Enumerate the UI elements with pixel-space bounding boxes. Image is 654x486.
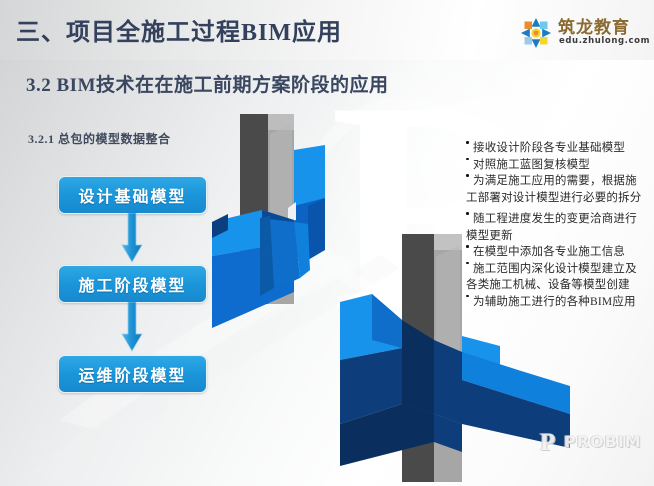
flow-box-design-model[interactable]: 设计基础模型 [58, 176, 207, 214]
probim-p-icon: P [540, 430, 555, 455]
bullet-item: 随工程进度发生的变更洽商进行 [466, 211, 652, 228]
logo-url: edu.zhulong.com [559, 36, 650, 46]
bullet-item: 在模型中添加各专业施工信息 [466, 244, 652, 261]
bullet-item: 为满足施工应用的需要，根据施 [466, 173, 652, 190]
model-flow-diagram: 设计基础模型 施工阶段模型 运维阶段模型 [58, 176, 208, 391]
flow-arrow-down-1 [121, 213, 143, 265]
bullet-item: 对照施工蓝图复核模型 [466, 157, 652, 174]
bullet-list: 接收设计阶段各专业基础模型 对照施工蓝图复核模型 为满足施工应用的需要，根据施 … [466, 140, 652, 310]
flow-box-construction-model[interactable]: 施工阶段模型 [58, 265, 207, 303]
subsection-label: 3.2.1 总包的模型数据整合 [28, 130, 171, 147]
bullet-item-continuation: 各类施工机械、设备等模型创建 [466, 277, 652, 294]
page-title: 三、项目全施工过程BIM应用 [16, 12, 342, 47]
section-subtitle: 3.2 BIM技术在在施工前期方案阶段的应用 [26, 70, 389, 97]
flower-logo-icon [518, 15, 554, 51]
bullet-item: 接收设计阶段各专业基础模型 [466, 140, 652, 157]
bullet-item: 施工范围内深化设计模型建立及 [466, 261, 652, 278]
bullet-item: 为辅助施工进行的各种BIM应用 [466, 294, 652, 311]
probim-watermark: P PROBIM [540, 430, 650, 458]
bullet-item-continuation: 模型更新 [466, 228, 652, 245]
flow-box-label: 运维阶段模型 [78, 362, 186, 386]
flow-box-label: 设计基础模型 [78, 183, 186, 207]
flow-box-label: 施工阶段模型 [78, 272, 186, 296]
flow-arrow-down-2 [121, 302, 143, 354]
bullet-item-continuation: 工部署对设计模型进行必要的拆分 [466, 190, 652, 207]
brand-logo[interactable]: 筑龙教育 edu.zhulong.com [518, 13, 648, 55]
flow-box-operation-model[interactable]: 运维阶段模型 [58, 355, 207, 393]
logo-brand-name: 筑龙教育 [558, 13, 630, 38]
probim-wordmark: PROBIM [564, 434, 642, 450]
slide-canvas: R [0, 0, 654, 486]
